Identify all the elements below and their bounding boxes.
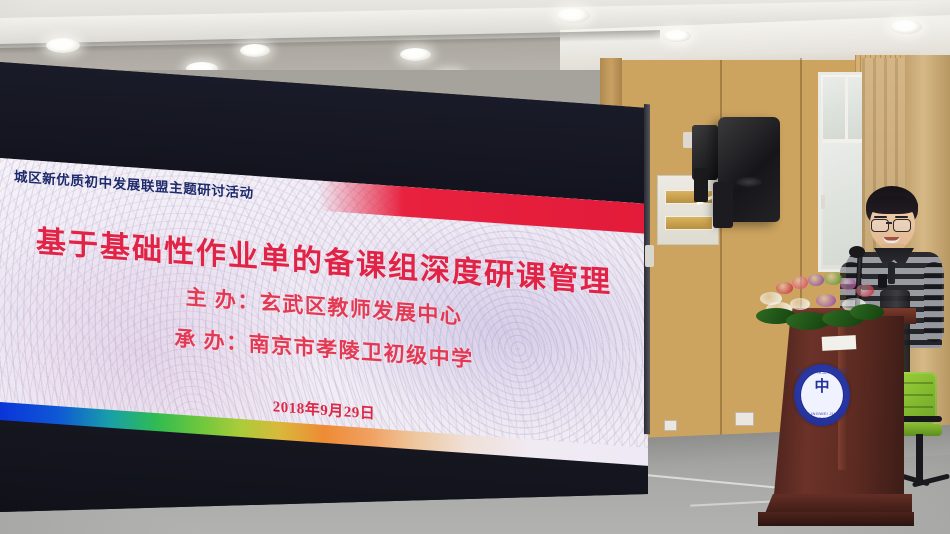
speaker-bracket [694,168,708,202]
ceiling-downlight [46,38,80,53]
flower-bloom [792,276,808,289]
led-wall-screen: 城区新优质初中发展联盟主题研讨活动 基于基础性作业单的备课组深度研课管理 主 办… [0,62,648,512]
school-emblem-glyph: 中 [794,380,850,395]
presenter-eyebrow [874,216,887,218]
chair-rib [899,394,933,396]
wall-outlet [735,412,754,426]
flower-bloom [816,294,836,307]
presenter-placket [888,262,895,284]
presenter-hair-fringe [867,196,918,214]
wall-vent-panel [657,175,719,245]
eyeglasses-bridge [886,222,892,224]
wall-outlet [664,420,677,431]
school-emblem: 南京市孝陵卫初级中学 中 XIAOLINGWEI JUNIOR HIGH SCH… [794,364,850,426]
speaker-port [736,177,762,187]
window-pane [823,77,845,139]
flower-bloom [856,284,874,297]
flower-bloom [776,282,793,294]
chair-rib [899,382,933,384]
led-screen-inner: 城区新优质初中发展联盟主题研讨活动 基于基础性作业单的备课组深度研课管理 主 办… [0,62,648,512]
wall-vent-slat [665,216,713,230]
presenter-arm-right [924,262,944,342]
eyeglasses-icon [871,219,889,232]
flower-bloom [808,274,824,286]
school-emblem-bottom-text: XIAOLINGWEI JUNIOR HIGH SCHOOL [794,411,850,421]
led-screen-right-edge [644,104,650,434]
ceiling-downlight [890,20,922,34]
ceiling-downlight [663,30,691,42]
conference-room-photo: 城区新优质初中发展联盟主题研讨活动 基于基础性作业单的备课组深度研课管理 主 办… [0,0,950,534]
school-emblem-top-text: 南京市孝陵卫初级中学 [794,369,850,375]
flower-leaf [850,304,884,320]
window-mullion [845,77,848,141]
presenter-eyebrow [895,216,908,218]
microphone-icon [849,246,865,258]
ceiling-downlight [240,44,270,57]
podium-plinth [758,512,914,526]
presentation-slide: 城区新优质初中发展联盟主题研讨活动 基于基础性作业单的备课组深度研课管理 主 办… [0,158,648,470]
eyeglasses-icon [893,219,911,232]
office-chair-post [916,434,923,480]
flower-bloom [840,278,856,290]
chair-rib [899,406,933,408]
flower-bloom [790,298,810,310]
window-latch [821,195,825,209]
speaker-bracket [713,182,733,228]
floral-arrangement [756,272,888,334]
ceiling-downlight [400,48,431,61]
podium-paper [822,335,857,351]
led-screen-clip [645,245,654,267]
ceiling-downlight [556,8,590,23]
